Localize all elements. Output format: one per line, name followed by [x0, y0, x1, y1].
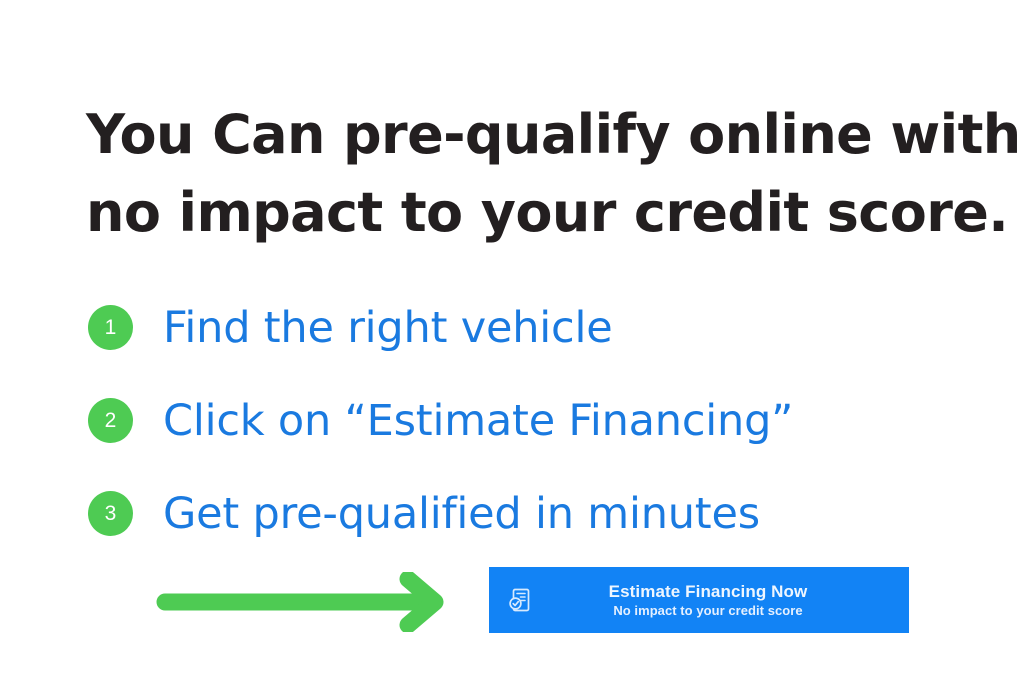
page-title: You Can pre-qualify online with no impac… — [86, 96, 966, 252]
step-number-badge: 2 — [88, 398, 133, 443]
prequalify-promo-graphic: You Can pre-qualify online with no impac… — [0, 0, 1024, 685]
cta-subtitle: No impact to your credit score — [535, 602, 881, 620]
list-item-step-1: 1 Find the right vehicle — [88, 281, 968, 374]
arrow-right-icon — [156, 572, 452, 632]
step-label: Get pre-qualified in minutes — [163, 489, 760, 539]
list-item-step-3: 3 Get pre-qualified in minutes — [88, 467, 968, 560]
headline-line-1: You Can pre-qualify online with — [86, 96, 966, 174]
step-label: Find the right vehicle — [163, 303, 612, 353]
step-number-badge: 3 — [88, 491, 133, 536]
cta-title: Estimate Financing Now — [535, 581, 881, 602]
cta-text-block: Estimate Financing Now No impact to your… — [535, 581, 909, 620]
step-number-badge: 1 — [88, 305, 133, 350]
estimate-financing-button[interactable]: Estimate Financing Now No impact to your… — [489, 567, 909, 633]
document-check-icon — [505, 585, 535, 615]
headline-line-2: no impact to your credit score. — [86, 174, 966, 252]
list-item-step-2: 2 Click on “Estimate Financing” — [88, 374, 968, 467]
step-label: Click on “Estimate Financing” — [163, 396, 793, 446]
steps-list: 1 Find the right vehicle 2 Click on “Est… — [88, 281, 968, 560]
